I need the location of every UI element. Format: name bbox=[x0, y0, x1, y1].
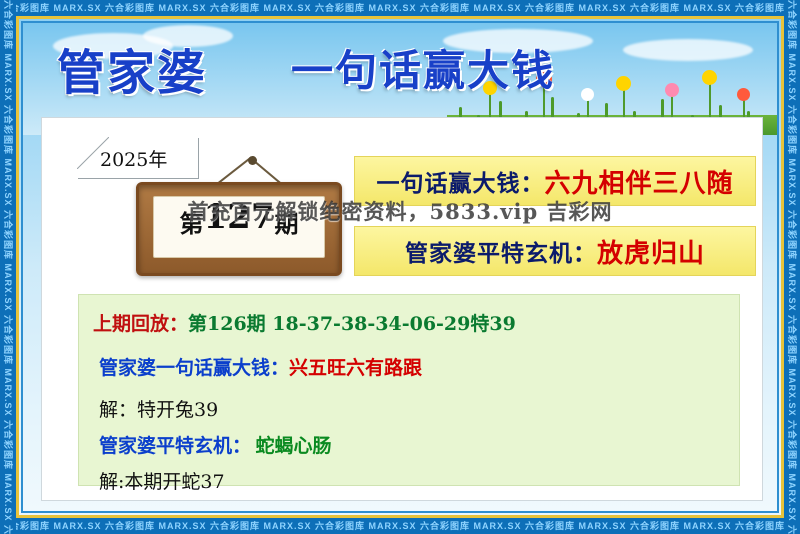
line-slogan-recap-label: 管家婆一句话赢大钱： bbox=[99, 357, 289, 379]
line-answer-1: 解：特开兔39 bbox=[99, 395, 218, 422]
line-answer-2-value: 本期开蛇37 bbox=[124, 471, 224, 493]
slogan-row-value: 六九相伴三八随 bbox=[544, 163, 733, 200]
line-slogan-recap: 管家婆一句话赢大钱：兴五旺六有路跟 bbox=[99, 353, 422, 380]
history-panel: 上期回放：第126期 18-37-38-34-06-29特39 管家婆一句话赢大… bbox=[78, 294, 740, 486]
border-watermark-text: 六合彩图库 MARX.SX 六合彩图库 MARX.SX bbox=[0, 3, 210, 13]
mystery-row-value: 放虎归山 bbox=[597, 233, 705, 270]
border-watermark-right: 六合彩图库 MARX.SX 六合彩图库 MARX.SX 六合彩图库 MARX.S… bbox=[784, 0, 800, 534]
slogan-row-label: 一句话赢大钱： bbox=[376, 164, 544, 198]
last-issue-label: 上期回放： bbox=[93, 313, 188, 335]
hanging-sign: 第127期 bbox=[120, 142, 350, 292]
last-issue-line: 上期回放：第126期 18-37-38-34-06-29特39 bbox=[93, 309, 516, 336]
page-title: 管家婆 一句话赢大钱 bbox=[43, 31, 663, 105]
issue-number: 第127期 bbox=[154, 197, 324, 257]
issue-value: 127 bbox=[204, 197, 275, 237]
line-answer-2: 解:本期开蛇37 bbox=[99, 467, 225, 494]
border-watermark-left: 六合彩图库 MARX.SX 六合彩图库 MARX.SX 六合彩图库 MARX.S… bbox=[0, 0, 16, 534]
slogan-row: 一句话赢大钱： 六九相伴三八随 bbox=[354, 156, 756, 206]
title-slogan: 一句话赢大钱 bbox=[291, 37, 555, 98]
line-answer-2-label: 解: bbox=[99, 471, 124, 493]
last-issue-value: 第126期 18-37-38-34-06-29特39 bbox=[188, 313, 516, 335]
line-answer-1-label: 解： bbox=[99, 399, 137, 421]
content-card: 2025年 第127期 bbox=[41, 117, 763, 501]
mystery-row: 管家婆平特玄机： 放虎归山 bbox=[354, 226, 756, 276]
mystery-row-label: 管家婆平特玄机： bbox=[405, 234, 597, 268]
line-answer-1-value: 特开兔39 bbox=[137, 399, 218, 421]
sign-paper: 第127期 bbox=[153, 196, 325, 258]
blue-frame: 管家婆 一句话赢大钱 2025年 bbox=[21, 21, 779, 513]
line-mystery-recap: 管家婆平特玄机： 蛇蝎心肠 bbox=[99, 431, 331, 458]
sign-board: 第127期 bbox=[136, 182, 342, 276]
rope-knot bbox=[248, 156, 257, 165]
border-watermark-bottom: 六合彩图库 MARX.SX 六合彩图库 MARX.SX 六合彩图库 MARX.S… bbox=[0, 518, 800, 534]
line-slogan-recap-value: 兴五旺六有路跟 bbox=[289, 357, 422, 379]
issue-prefix: 第 bbox=[180, 209, 204, 238]
line-mystery-recap-label: 管家婆平特玄机： bbox=[99, 435, 251, 457]
issue-suffix: 期 bbox=[274, 209, 298, 238]
gold-frame: 管家婆 一句话赢大钱 2025年 bbox=[16, 16, 784, 518]
poster-root: 六合彩图库 MARX.SX 六合彩图库 MARX.SX 六合彩图库 MARX.S… bbox=[0, 0, 800, 534]
line-mystery-recap-value: 蛇蝎心肠 bbox=[255, 435, 331, 457]
title-brand: 管家婆 bbox=[57, 33, 207, 103]
border-watermark-top: 六合彩图库 MARX.SX 六合彩图库 MARX.SX 六合彩图库 MARX.S… bbox=[0, 0, 800, 16]
